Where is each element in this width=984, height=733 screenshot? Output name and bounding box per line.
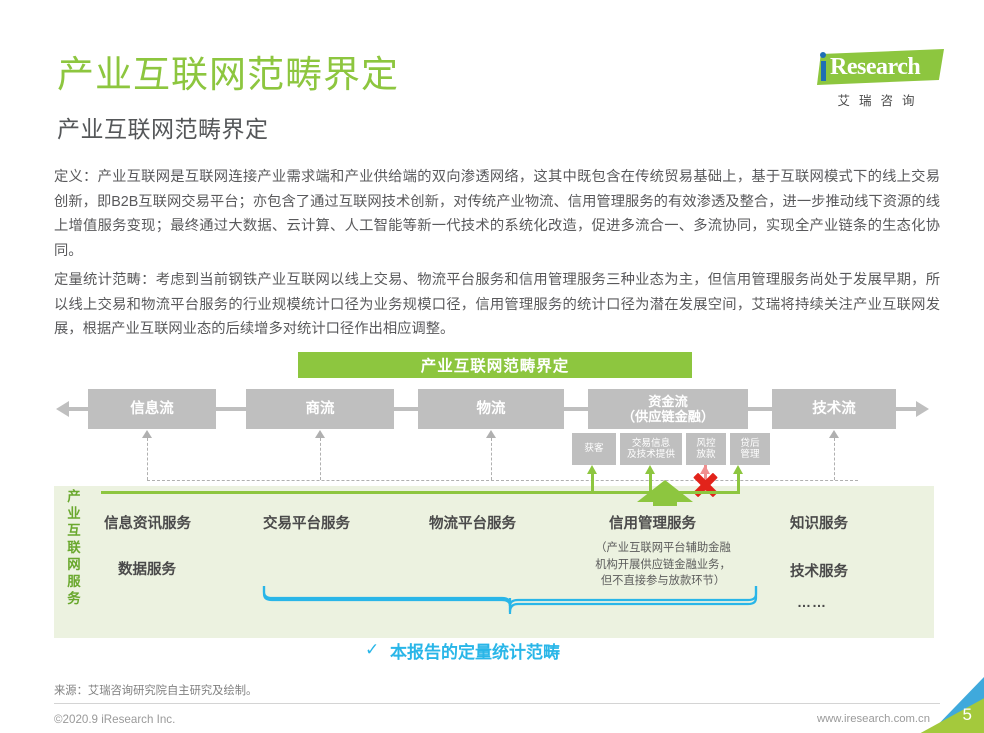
flow-box-technology: 技术流 bbox=[772, 389, 896, 429]
finance-step-postloan-l1: 贷后 bbox=[740, 438, 759, 450]
dashed-arrowhead-commerce-icon bbox=[315, 430, 325, 438]
finance-step-acquire: 获客 bbox=[572, 433, 616, 465]
flow-row: 信息流 商流 物流 资金流 （供应链金融） 技术流 bbox=[0, 389, 984, 429]
dashed-base-line bbox=[147, 480, 858, 481]
green-arrowhead-postloan-icon bbox=[733, 465, 743, 474]
finance-step-postloan: 贷后 管理 bbox=[730, 433, 770, 465]
dashed-riser-information bbox=[147, 438, 148, 480]
logo-wordmark: Research bbox=[830, 54, 920, 81]
flow-connector-4 bbox=[748, 407, 772, 411]
green-riser-acquire bbox=[591, 474, 594, 494]
service-label-credit-management: 信用管理服务 bbox=[609, 512, 696, 533]
dashed-arrowhead-logistics-icon bbox=[486, 430, 496, 438]
service-label-knowledge: 知识服务 bbox=[790, 512, 848, 533]
website-url[interactable]: www.iresearch.com.cn bbox=[817, 713, 930, 725]
flow-box-information: 信息流 bbox=[88, 389, 216, 429]
page-number: 5 bbox=[963, 705, 972, 725]
scope-diagram: 产业互联网范畴界定 信息流 商流 物流 资金流 （供应链金融） 技术流 获客 交… bbox=[0, 346, 984, 676]
scope-paragraph: 定量统计范畴：考虑到当前钢铁产业互联网以线上交易、物流平台服务和信用管理服务三种… bbox=[54, 268, 940, 342]
service-label-technology: 技术服务 bbox=[790, 560, 848, 581]
service-label-data: 数据服务 bbox=[118, 558, 176, 579]
logo-mark: Research bbox=[799, 46, 944, 88]
dashed-riser-commerce bbox=[320, 438, 321, 480]
finance-step-transaction-info: 交易信息 及技术提供 bbox=[620, 433, 682, 465]
dashed-arrowhead-technology-icon bbox=[829, 430, 839, 438]
flow-box-logistics: 物流 bbox=[418, 389, 564, 429]
dashed-riser-logistics bbox=[491, 438, 492, 480]
credit-note-line-2: 机构开展供应链金融业务， bbox=[595, 559, 731, 571]
finance-step-riskcontrol-l2: 放款 bbox=[696, 449, 715, 461]
flow-box-capital-label: 资金流 bbox=[648, 394, 688, 410]
flow-box-capital-sub: （供应链金融） bbox=[622, 409, 714, 425]
service-label-logistics-platform: 物流平台服务 bbox=[429, 512, 516, 533]
flow-connector-1 bbox=[216, 407, 246, 411]
logo-i-stem-icon bbox=[821, 61, 826, 81]
page-subtitle: 产业互联网范畴界定 bbox=[57, 110, 269, 144]
flow-connector-2 bbox=[394, 407, 418, 411]
scope-brace-icon bbox=[262, 584, 762, 614]
green-arrowhead-transaction-icon bbox=[645, 465, 655, 474]
finance-step-postloan-l2: 管理 bbox=[740, 449, 759, 461]
definition-paragraph: 定义：产业互联网是互联网连接产业需求端和产业供给端的双向渗透网络，这其中既包含在… bbox=[54, 165, 940, 263]
finance-step-riskcontrol-l1: 风控 bbox=[696, 438, 715, 450]
green-bus-line bbox=[101, 491, 644, 494]
check-icon: ✓ bbox=[365, 640, 379, 660]
flow-connector-3 bbox=[564, 407, 588, 411]
service-note-credit-management: （产业互联网平台辅助金融 机构开展供应链金融业务， 但不直接参与放款环节） bbox=[578, 540, 748, 590]
diagram-caption: 本报告的定量统计范畴 bbox=[390, 638, 560, 663]
iresearch-logo: Research 艾瑞咨询 bbox=[799, 46, 944, 108]
green-arrowhead-acquire-icon bbox=[587, 465, 597, 474]
service-label-information: 信息资讯服务 bbox=[104, 512, 191, 533]
slide-page: 产业互联网范畴界定 产业互联网范畴界定 Research 艾瑞咨询 定义：产业互… bbox=[0, 0, 984, 733]
service-label-ellipsis: …… bbox=[797, 594, 827, 610]
corner-green-triangle-icon bbox=[918, 677, 984, 733]
finance-step-transaction-info-l1: 交易信息 bbox=[632, 438, 670, 450]
logo-cn-name: 艾瑞咨询 bbox=[817, 90, 944, 109]
service-label-trading-platform: 交易平台服务 bbox=[263, 512, 350, 533]
logo-i-dot-icon bbox=[820, 52, 826, 58]
diagram-title-bar: 产业互联网范畴界定 bbox=[298, 352, 692, 378]
finance-step-riskcontrol: 风控 放款 bbox=[686, 433, 726, 465]
service-band-label: 产业互联网服务 bbox=[62, 488, 86, 607]
blocked-x-icon bbox=[692, 472, 718, 498]
source-note: 来源：艾瑞咨询研究院自主研究及绘制。 bbox=[54, 682, 257, 698]
dashed-arrowhead-information-icon bbox=[142, 430, 152, 438]
flow-arrow-right-icon bbox=[916, 401, 929, 417]
big-green-arrow-icon bbox=[637, 480, 693, 506]
flow-box-capital: 资金流 （供应链金融） bbox=[588, 389, 748, 429]
copyright-text: ©2020.9 iResearch Inc. bbox=[54, 713, 175, 726]
page-title: 产业互联网范畴界定 bbox=[57, 44, 399, 98]
finance-step-transaction-info-l2: 及技术提供 bbox=[627, 449, 675, 461]
flow-arrow-right-tail bbox=[894, 407, 918, 411]
corner-decoration bbox=[918, 677, 984, 733]
flow-box-commerce: 商流 bbox=[246, 389, 394, 429]
footer-divider bbox=[54, 703, 940, 704]
credit-note-line-1: （产业互联网平台辅助金融 bbox=[595, 542, 731, 554]
dashed-riser-technology bbox=[834, 438, 835, 480]
flow-arrow-left-tail bbox=[68, 407, 90, 411]
